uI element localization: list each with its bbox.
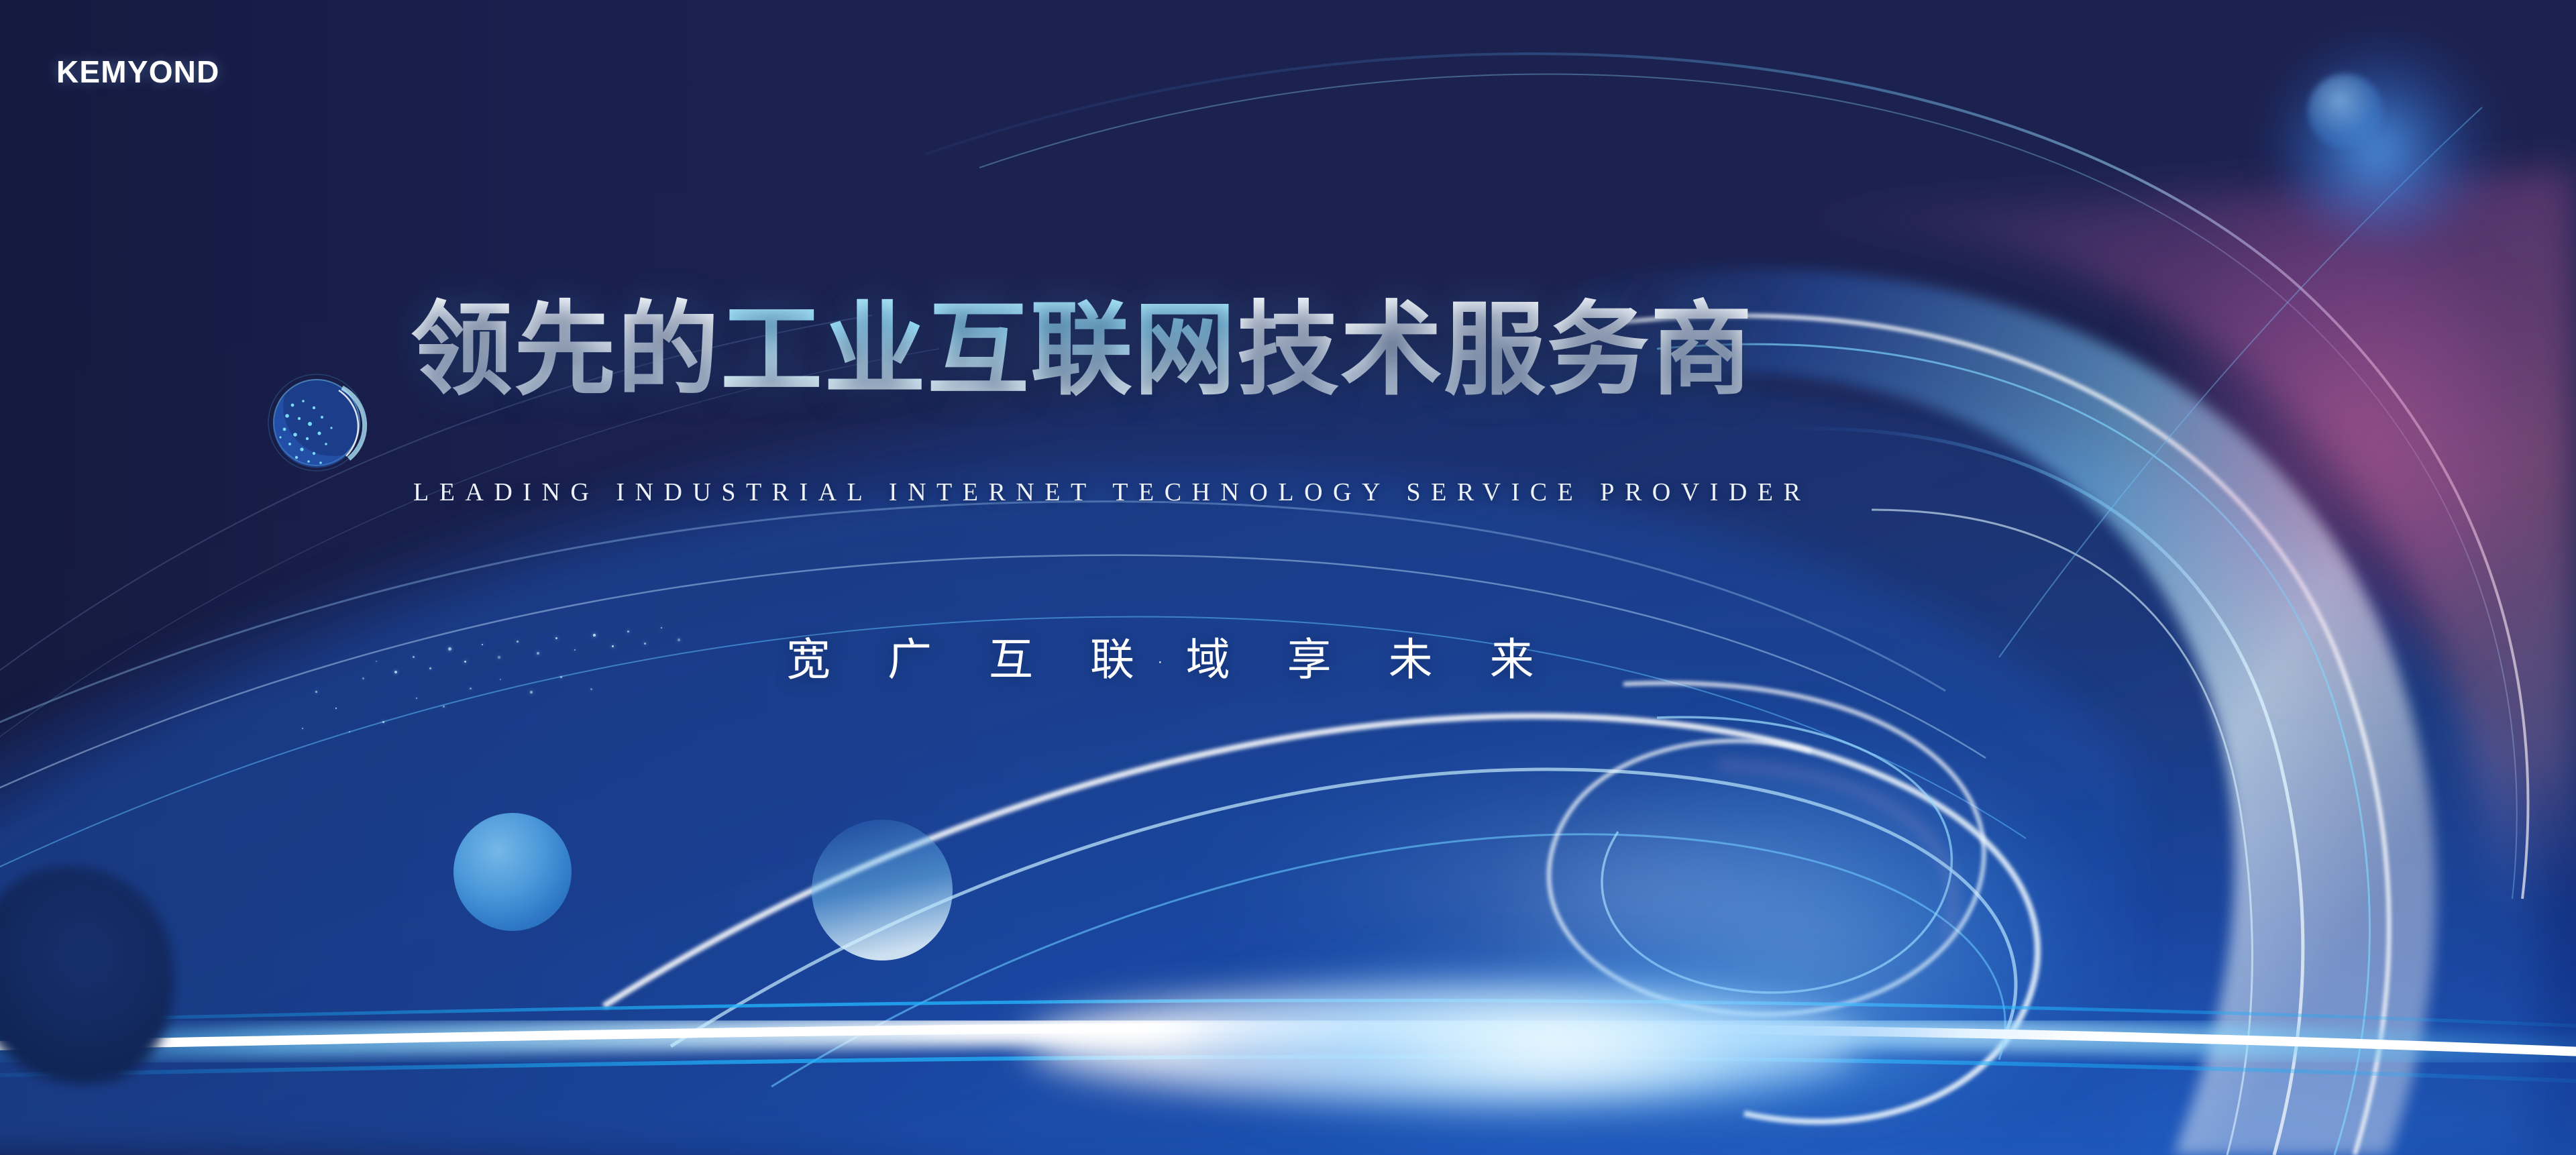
page-title: 领先的工业互联网技术服务商 [411, 290, 1754, 410]
sphere-center [812, 820, 953, 960]
particle-dot [593, 634, 596, 637]
particle-dot [555, 637, 557, 639]
particle-dot [394, 671, 397, 673]
particle-dot [627, 630, 629, 632]
particle-dot [302, 728, 303, 729]
particle-dot [661, 627, 662, 628]
headline-segment-cyan: 工业互联网 [720, 290, 1237, 409]
brand-logo[interactable]: KEMYOND [56, 54, 220, 90]
banner-canvas: KEMYOND 领先的工业互联网技术服务商 LEADING INDUSTRIAL… [0, 0, 2576, 1155]
particle-dot [530, 691, 533, 694]
particle-dot [612, 645, 614, 647]
particle-dot [429, 667, 431, 669]
tagline-left: 宽 广 互 联 [786, 634, 1156, 685]
particle-dot [574, 649, 576, 651]
abstract-light-ribbons [0, 0, 2576, 1155]
particle-dot [443, 706, 445, 708]
sphere-left [453, 813, 572, 931]
particle-dot [482, 644, 483, 645]
headline-segment-white-1: 领先的 [411, 290, 720, 409]
particle-dot [560, 676, 562, 678]
particle-dot [382, 721, 384, 723]
sphere-top-right [2308, 74, 2383, 149]
particle-dot [644, 643, 646, 645]
particle-dot [448, 647, 451, 651]
particle-dot [464, 661, 466, 663]
particle-dot [315, 691, 317, 693]
light-streak-hotspot [1026, 991, 1858, 1096]
particle-dot [590, 688, 592, 690]
particle-dot [376, 661, 377, 662]
particle-dot [335, 708, 337, 709]
particle-dot [498, 656, 500, 659]
tagline: 宽 广 互 联·域 享 未 来 [786, 624, 1556, 688]
particle-dot [500, 679, 501, 680]
dotted-sphere-icon [268, 374, 365, 471]
particle-dot [678, 639, 680, 641]
particle-dot [349, 731, 350, 732]
particle-dot [413, 656, 415, 658]
particle-dot [416, 698, 417, 699]
tagline-separator: · [1156, 647, 1186, 678]
tagline-right: 域 享 未 来 [1186, 634, 1556, 685]
headline-segment-white-2: 技术服务商 [1237, 290, 1754, 409]
subtitle-english: LEADING INDUSTRIAL INTERNET TECHNOLOGY S… [413, 478, 1811, 507]
particle-dot [362, 677, 364, 679]
particle-dot [470, 687, 472, 690]
particle-dot [537, 652, 539, 655]
particle-dot [517, 641, 519, 643]
